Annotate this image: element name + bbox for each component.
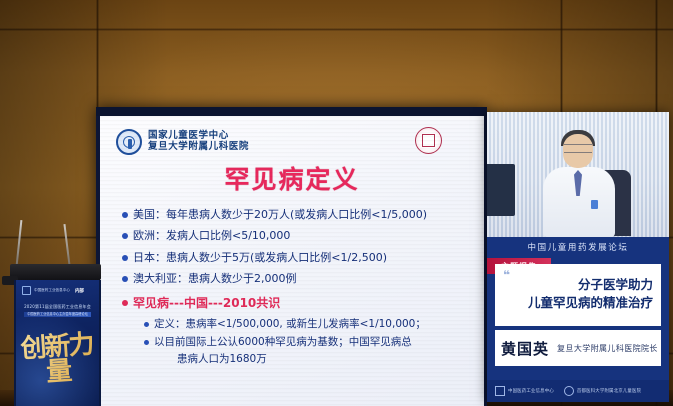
org-logo-line2: 复旦大学附属儿科医院 [148, 142, 249, 153]
bullet-item: 日本：患病人数少于5万(或发病人口比例<1/2,500) [122, 251, 470, 265]
podium-header-bold: 内部 [75, 288, 84, 294]
sub-bullet-item: 以目前国际上公认6000种罕见病为基数；中国罕见病总 [144, 336, 470, 349]
podium-ribbon: 中国医药工业信息中心主办暨年度高峰论坛 [24, 312, 91, 317]
podium-top-surface [10, 264, 101, 280]
sponsor-logo-bar: 中国医药工业信息中心 首都医科大学附属北京儿童医院 [487, 380, 669, 402]
hospital-crest-icon [116, 129, 142, 155]
slide-sub-bullet-list: 定义：患病率<1/500,000, 或新生儿发病率<1/10,000； 以目前国… [144, 318, 470, 366]
bullet-text: 美国：每年患病人数少于20万人(或发病人口比例<1/5,000) [133, 208, 427, 222]
hospital-shield-logo-icon [564, 386, 574, 396]
bullet-dot-icon [144, 322, 149, 327]
slide-bullet-list: 美国：每年患病人数少于20万人(或发病人口比例<1/5,000) 欧洲：发病人口… [122, 208, 470, 366]
sponsor-name: 中国医药工业信息中心 [508, 388, 554, 394]
bullet-item: 欧洲：发病人口比例<5/10,000 [122, 229, 470, 243]
sponsor-logo: 中国医药工业信息中心 [495, 386, 554, 396]
sub-bullet-text: 以目前国际上公认6000种罕见病为基数；中国罕见病总 [154, 336, 412, 349]
bullet-dot-icon [122, 255, 128, 261]
sponsor-name: 首都医科大学附属北京儿童医院 [577, 388, 641, 394]
screen-bezel [96, 107, 487, 116]
bullet-dot-icon [122, 212, 128, 218]
speaker-panel: 中国儿童用药发展论坛 主题报告 ❝ 分子医学助力 儿童罕见病的精准治疗 黄国英 … [487, 112, 669, 402]
industry-center-logo-icon [495, 386, 505, 396]
podium-banner-header: 中国医药工业信息中心 内部 [22, 286, 93, 295]
slide-title: 罕见病定义 [100, 160, 484, 196]
forum-name: 中国儿童用药发展论坛 [527, 241, 628, 253]
sub-bullet-text: 定义：患病率<1/500,000, 或新生儿发病率<1/10,000； [154, 318, 426, 331]
podium-header-small: 中国医药工业信息中心 [34, 288, 70, 293]
speaker-video-feed [487, 112, 669, 237]
university-seal-icon [415, 127, 442, 154]
speaker-name-card: 黄国英 复旦大学附属儿科医院院长 [495, 330, 661, 366]
sub-bullet-item: 定义：患病率<1/500,000, 或新生儿发病率<1/10,000； [144, 318, 470, 331]
talk-title-line1: 分子医学助力 [505, 276, 653, 294]
bullet-dot-icon [122, 276, 128, 282]
forum-name-bar: 中国儿童用药发展论坛 [487, 237, 669, 256]
speaker-podium: 中国医药工业信息中心 内部 2020第11届全国医药工业信息年会 中国医药工业信… [14, 264, 97, 406]
org-mark-icon [22, 286, 31, 295]
bullet-item: 美国：每年患病人数少于20万人(或发病人口比例<1/5,000) [122, 208, 470, 222]
bullet-text: 罕见病---中国---2010共识 [133, 296, 280, 311]
podium-subtitle: 2020第11届全国医药工业信息年会 [21, 304, 94, 310]
podium-front-banner: 中国医药工业信息中心 内部 2020第11届全国医药工业信息年会 中国医药工业信… [14, 280, 101, 406]
bullet-dot-icon [144, 340, 149, 345]
speaker-lapel-badge [591, 200, 598, 209]
podium-ribbon-text: 中国医药工业信息中心主办暨年度高峰论坛 [24, 312, 91, 317]
speaker-name: 黄国英 [501, 338, 549, 359]
podium-calligraphy: 创新力量 [14, 317, 101, 403]
presentation-slide: 国家儿童医学中心 复旦大学附属儿科医院 罕见病定义 美国：每年患病人数少于20万… [100, 116, 484, 406]
projection-screen: 国家儿童医学中心 复旦大学附属儿科医院 罕见病定义 美国：每年患病人数少于20万… [96, 107, 487, 406]
bullet-text: 澳大利亚：患病人数少于2,000例 [133, 272, 297, 286]
desk-monitor [487, 164, 515, 216]
bullet-dot-icon [122, 300, 128, 306]
slide-org-logo: 国家儿童医学中心 复旦大学附属儿科医院 [116, 129, 249, 155]
talk-title-card: ❝ 分子医学助力 儿童罕见病的精准治疗 [495, 264, 661, 326]
talk-title-line2: 儿童罕见病的精准治疗 [505, 294, 653, 312]
bullet-text: 日本：患病人数少于5万(或发病人口比例<1/2,500) [133, 251, 387, 265]
sub-bullet-continuation: 患病人口为1680万 [177, 351, 470, 366]
speaker-glasses-icon [564, 144, 592, 153]
bullet-item: 澳大利亚：患病人数少于2,000例 [122, 272, 470, 286]
bullet-dot-icon [122, 233, 128, 239]
conference-hall-photo: 国家儿童医学中心 复旦大学附属儿科医院 罕见病定义 美国：每年患病人数少于20万… [0, 0, 673, 406]
speaker-role: 复旦大学附属儿科医院院长 [557, 343, 658, 354]
bullet-text: 欧洲：发病人口比例<5/10,000 [133, 229, 290, 243]
bullet-item-highlight: 罕见病---中国---2010共识 [122, 296, 470, 311]
sponsor-logo: 首都医科大学附属北京儿童医院 [564, 386, 641, 396]
